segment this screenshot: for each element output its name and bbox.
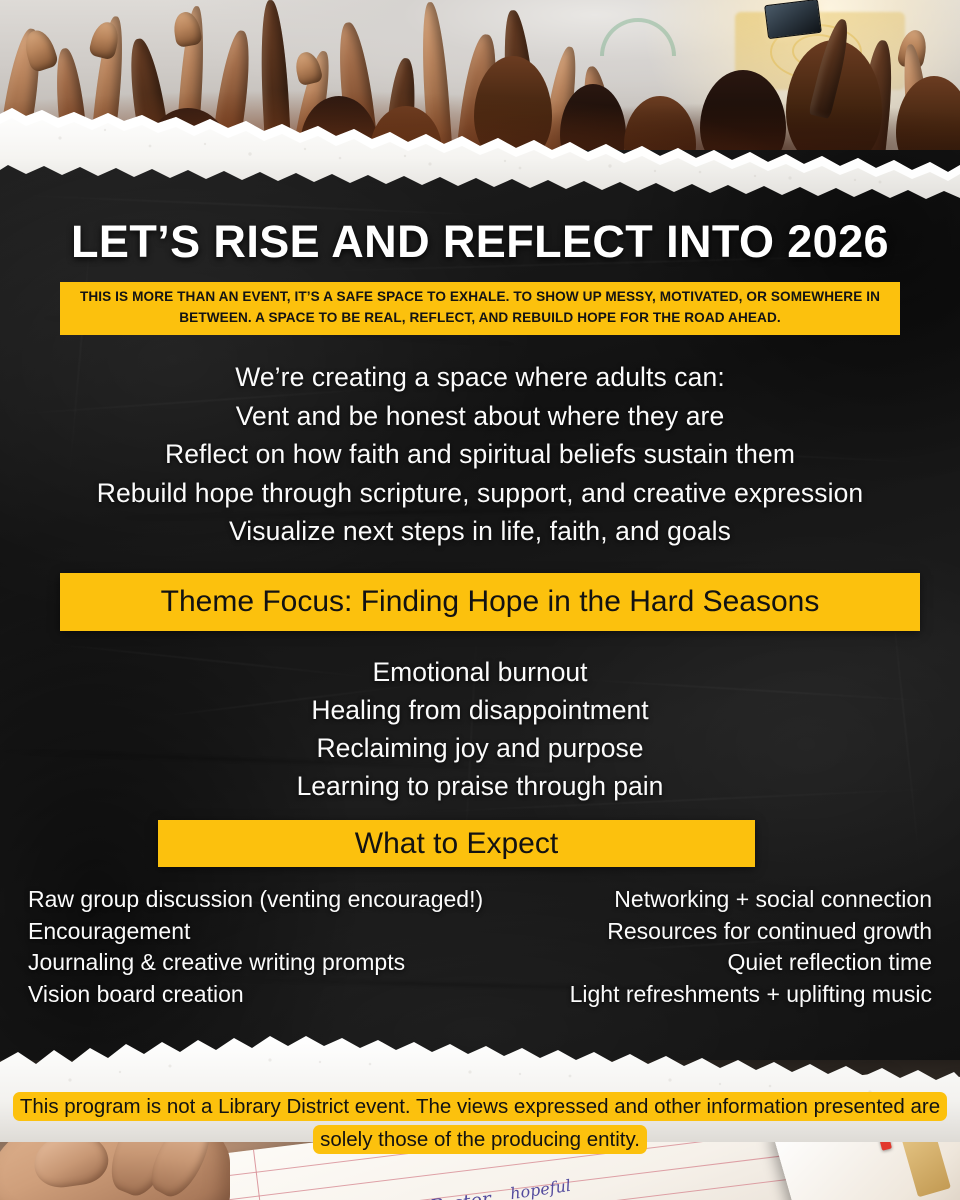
page-title: LET’S RISE AND REFLECT INTO 2026 [0,216,960,268]
theme-line: Learning to praise through pain [0,767,960,805]
what-to-expect-columns: Raw group discussion (venting encouraged… [0,884,960,1010]
subtitle-highlight-band: THIS IS MORE THAN AN EVENT, IT’S A SAFE … [60,282,900,335]
intro-line: We’re creating a space where adults can: [0,358,960,397]
intro-line: Reflect on how faith and spiritual belie… [0,435,960,474]
expect-item: Journaling & creative writing prompts [28,947,483,979]
what-to-expect-band: What to Expect [158,820,755,867]
disclaimer-text: This program is not a Library District e… [13,1092,947,1154]
intro-line: Vent and be honest about where they are [0,397,960,436]
intro-line: Rebuild hope through scripture, support,… [0,474,960,513]
expect-item: Light refreshments + uplifting music [570,979,932,1011]
flyer-canvas: Pastor hopeful [0,0,960,1200]
intro-line: Visualize next steps in life, faith, and… [0,512,960,551]
expect-item: Vision board creation [28,979,483,1011]
expect-column-right: Networking + social connection Resources… [570,884,932,1010]
expect-item: Quiet reflection time [570,947,932,979]
theme-list: Emotional burnout Healing from disappoin… [0,653,960,805]
flyer-content: LET’S RISE AND REFLECT INTO 2026 THIS IS… [0,0,960,1200]
theme-focus-band: Theme Focus: Finding Hope in the Hard Se… [60,573,920,631]
expect-item: Networking + social connection [570,884,932,916]
expect-item: Raw group discussion (venting encouraged… [28,884,483,916]
theme-line: Reclaiming joy and purpose [0,729,960,767]
expect-item: Encouragement [28,916,483,948]
disclaimer: This program is not a Library District e… [0,1090,960,1156]
theme-line: Emotional burnout [0,653,960,691]
intro-list: We’re creating a space where adults can:… [0,358,960,551]
expect-item: Resources for continued growth [570,916,932,948]
theme-line: Healing from disappointment [0,691,960,729]
expect-column-left: Raw group discussion (venting encouraged… [28,884,483,1010]
